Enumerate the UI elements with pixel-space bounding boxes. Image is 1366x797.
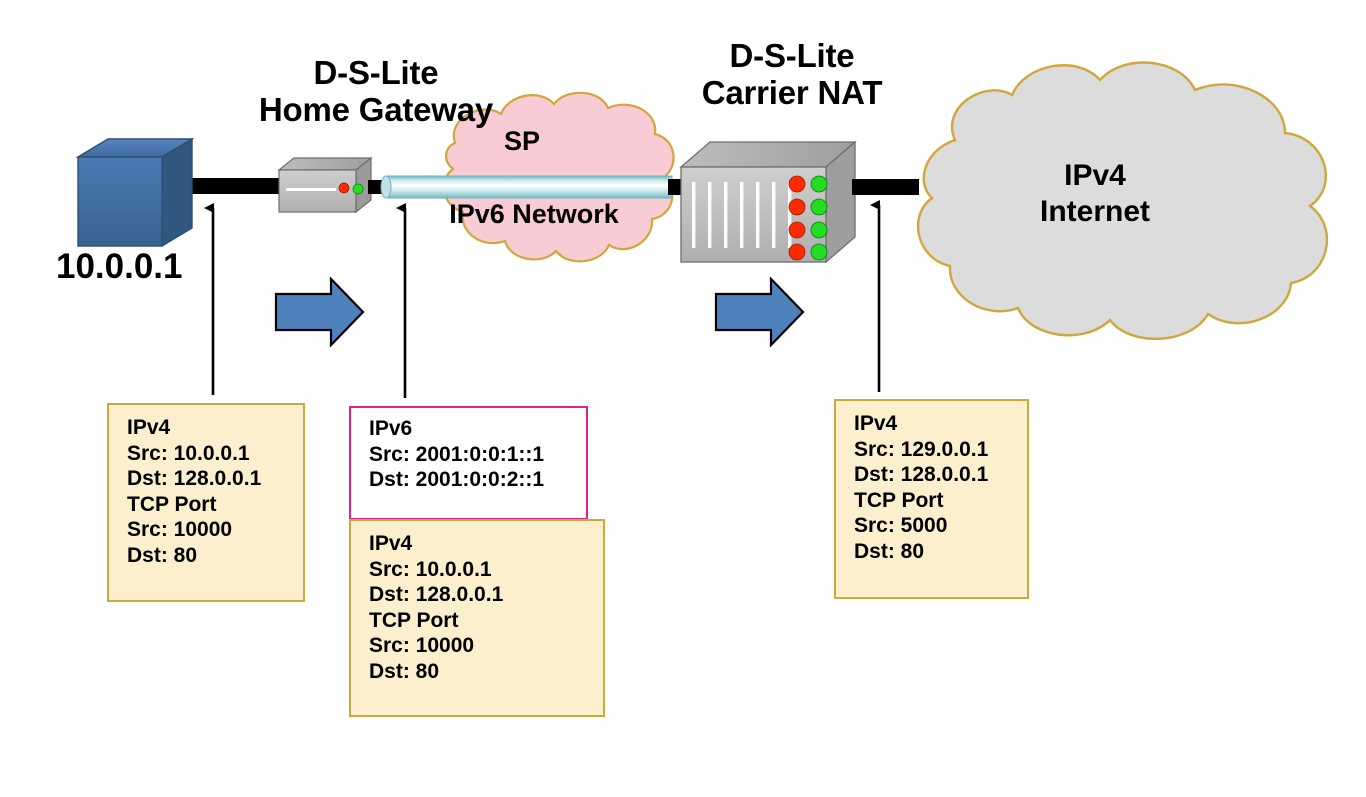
packet-src-port: Src: 10000 <box>127 517 303 543</box>
packet-box-left: IPv4 Src: 10.0.0.1 Dst: 128.0.0.1 TCP Po… <box>107 403 305 602</box>
packet-box-right: IPv4 Src: 129.0.0.1 Dst: 128.0.0.1 TCP P… <box>834 399 1029 599</box>
packet-src-ip: Src: 2001:0:0:1::1 <box>369 442 586 468</box>
packet-dst-ip: Dst: 128.0.0.1 <box>369 582 603 608</box>
internet-cloud-label: IPv4 Internet <box>1000 158 1190 230</box>
host-ip-label: 10.0.0.1 <box>56 247 183 287</box>
flow-arrow-2 <box>716 279 803 345</box>
internet-cloud-label-line1: IPv4 <box>1064 159 1126 192</box>
home-gateway-title-line1: D-S-Lite <box>314 54 439 91</box>
sp-cloud-label-bottom: IPv6 Network <box>424 199 644 230</box>
packet-protocol: IPv4 <box>854 411 1027 437</box>
packet-src-ip: Src: 10.0.0.1 <box>369 557 603 583</box>
packet-dst-port: Dst: 80 <box>127 543 303 569</box>
host-cube <box>78 139 192 246</box>
flow-arrow-1 <box>276 279 363 345</box>
internet-cloud-label-line2: Internet <box>1000 194 1190 230</box>
carrier-nat-device <box>681 142 855 262</box>
carrier-nat-title-line1: D-S-Lite <box>730 37 855 74</box>
packet-dst-ip: Dst: 128.0.0.1 <box>127 466 303 492</box>
sp-cloud-label-top: SP <box>462 126 582 157</box>
packet-box-middle-ipv6-header: IPv6 Src: 2001:0:0:1::1 Dst: 2001:0:0:2:… <box>349 406 588 520</box>
packet-protocol: IPv4 <box>369 531 603 557</box>
packet-box-middle-ipv4-payload: IPv4 Src: 10.0.0.1 Dst: 128.0.0.1 TCP Po… <box>349 519 605 717</box>
packet-transport: TCP Port <box>854 488 1027 514</box>
diagram-canvas: D-S-Lite Home Gateway D-S-Lite Carrier N… <box>0 0 1366 797</box>
packet-src-port: Src: 5000 <box>854 513 1027 539</box>
packet-dst-port: Dst: 80 <box>369 659 603 685</box>
packet-protocol: IPv4 <box>127 415 303 441</box>
link-host-to-gateway <box>185 178 290 194</box>
packet-src-port: Src: 10000 <box>369 633 603 659</box>
carrier-nat-title: D-S-Lite Carrier NAT <box>612 38 972 112</box>
packet-protocol: IPv6 <box>369 416 586 442</box>
led-green <box>353 184 363 194</box>
home-gateway-title-line2: Home Gateway <box>196 92 556 129</box>
carrier-nat-title-line2: Carrier NAT <box>612 75 972 112</box>
ipv6-tunnel-pipe <box>381 176 672 198</box>
packet-dst-ip: Dst: 128.0.0.1 <box>854 462 1027 488</box>
home-gateway-device <box>279 158 371 212</box>
packet-transport: TCP Port <box>369 608 603 634</box>
packet-dst-port: Dst: 80 <box>854 539 1027 565</box>
home-gateway-title: D-S-Lite Home Gateway <box>196 55 556 129</box>
led-red <box>339 183 349 193</box>
packet-src-ip: Src: 129.0.0.1 <box>854 437 1027 463</box>
packet-src-ip: Src: 10.0.0.1 <box>127 441 303 467</box>
packet-dst-ip: Dst: 2001:0:0:2::1 <box>369 467 586 493</box>
link-nat-to-internet <box>852 179 919 195</box>
packet-transport: TCP Port <box>127 492 303 518</box>
